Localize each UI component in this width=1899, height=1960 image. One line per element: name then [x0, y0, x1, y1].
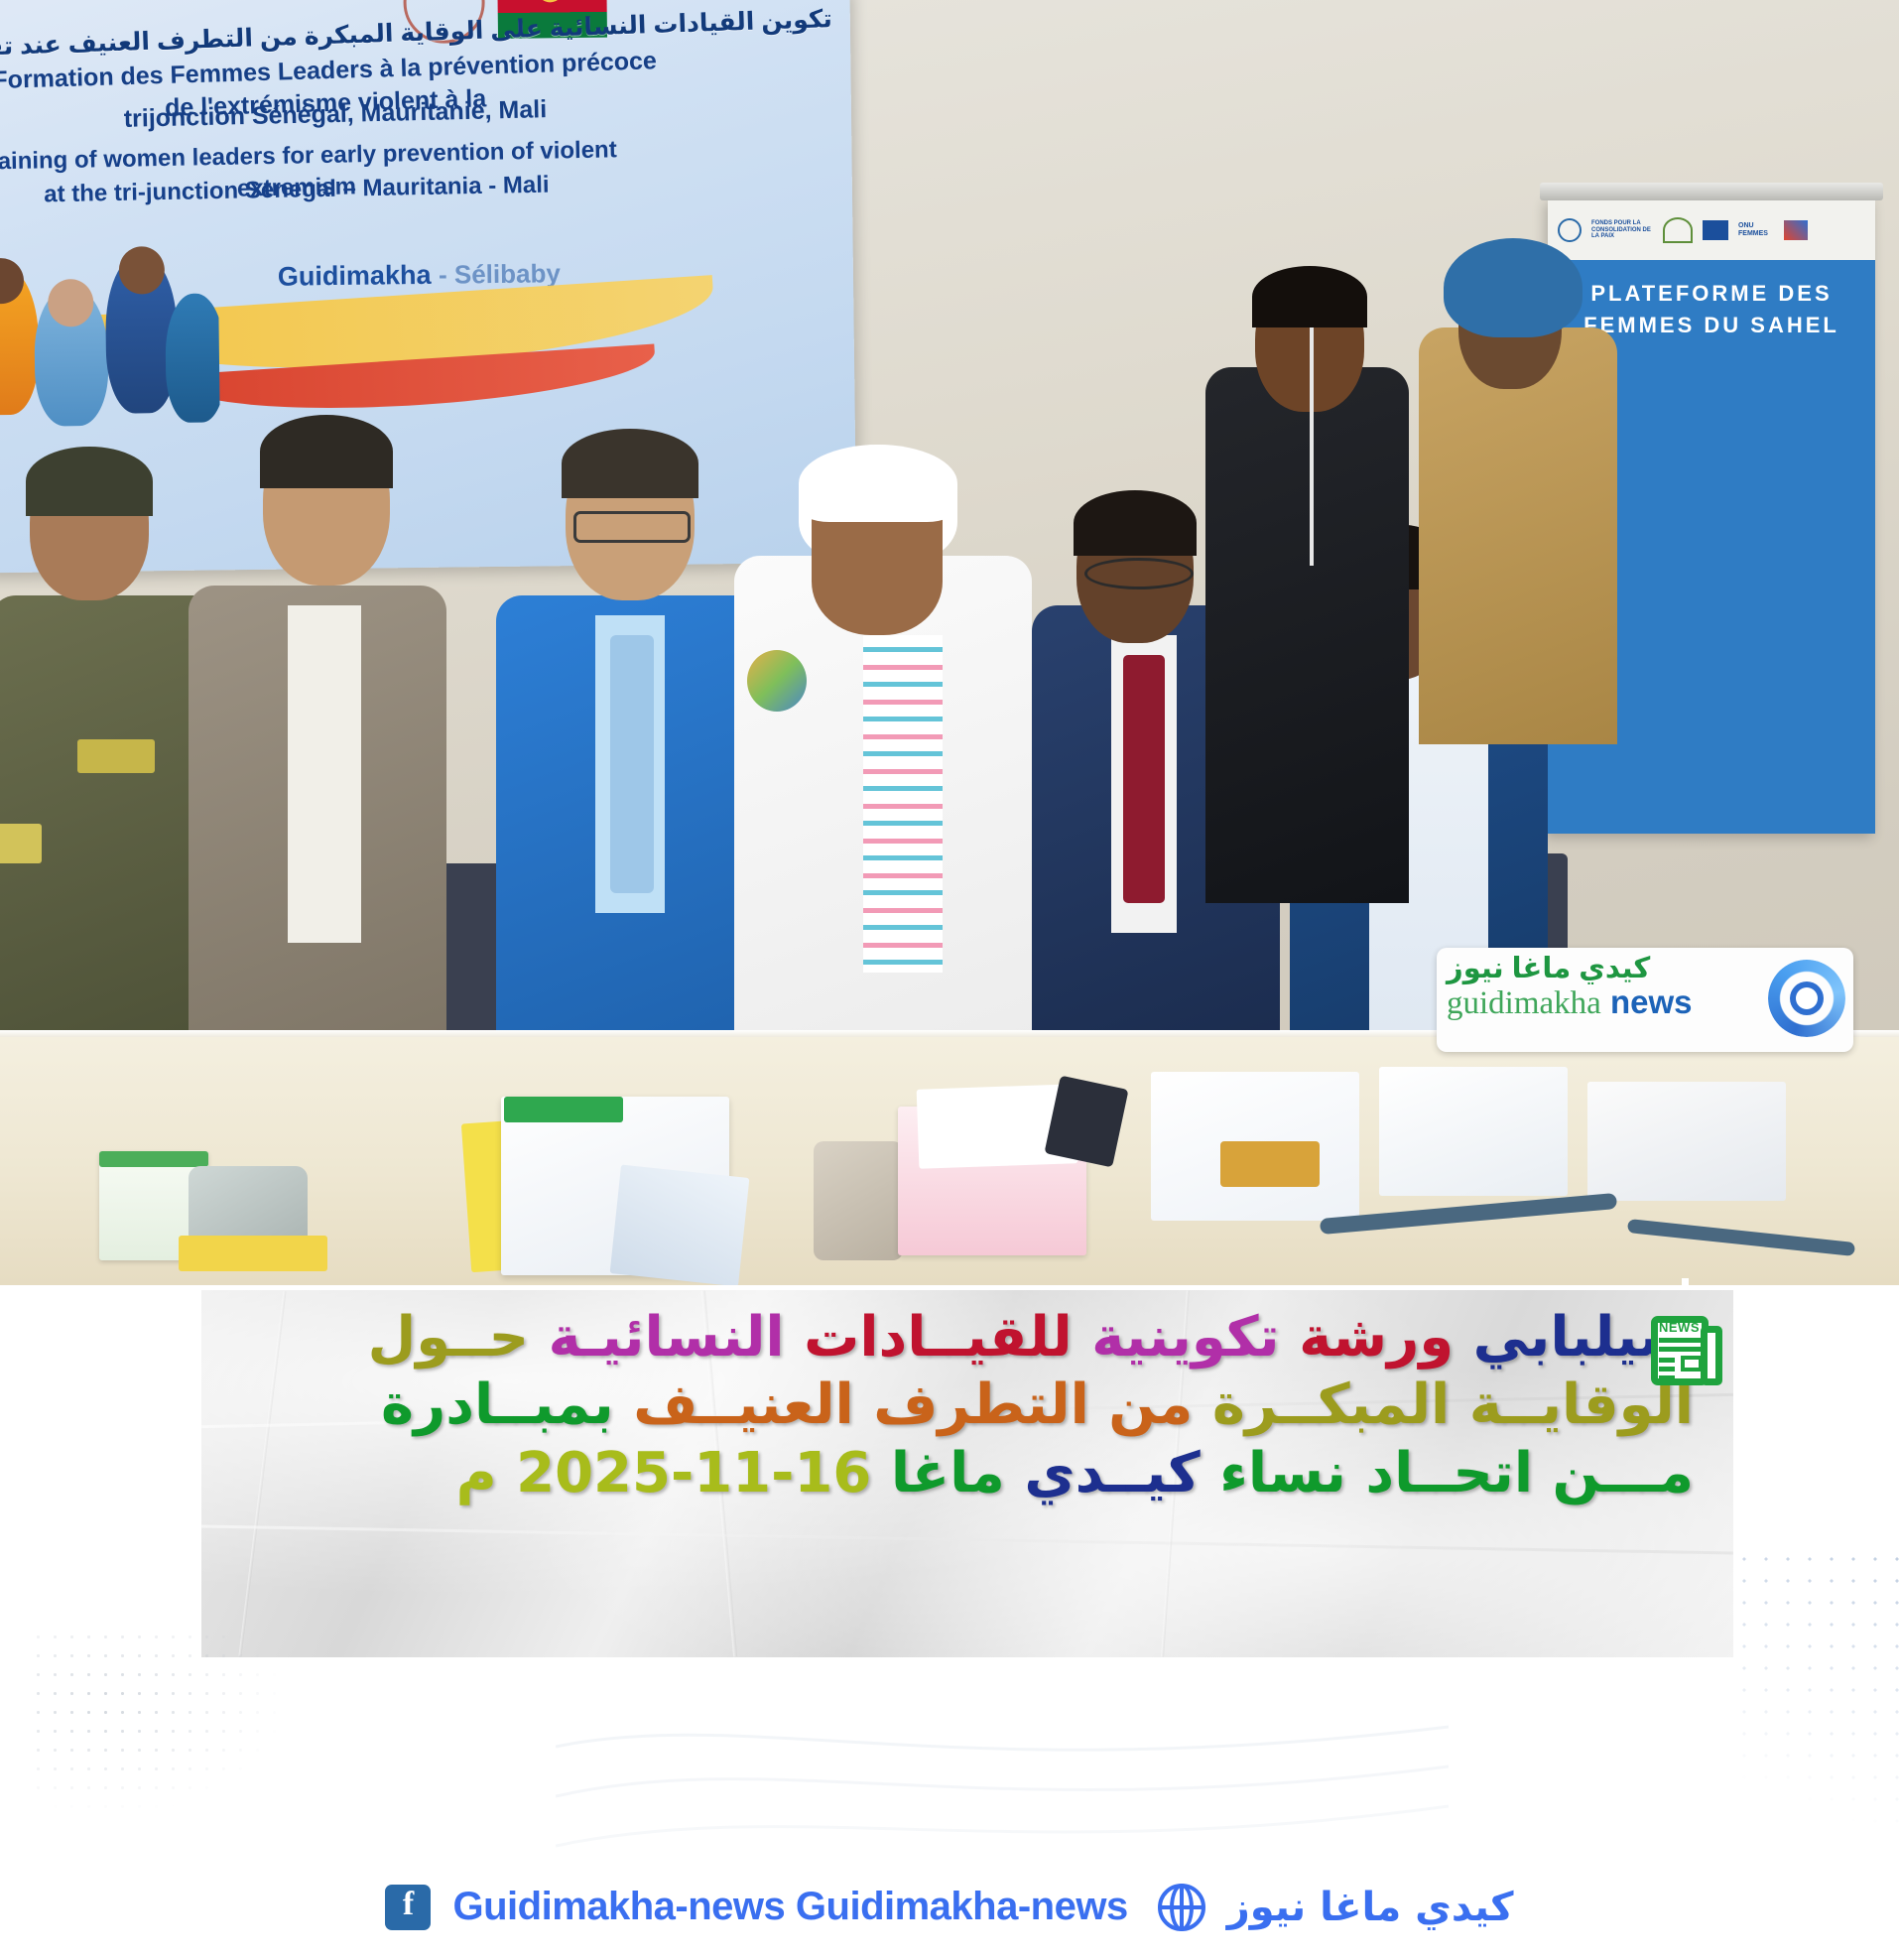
- caption-line-3: مـــن اتحــاد نساء كيــدي ماغا 16-11-202…: [241, 1440, 1694, 1507]
- document-header: [99, 1151, 208, 1167]
- rollup-logo-1-label: FONDS POUR LA CONSOLIDATION DE LA PAIX: [1591, 220, 1653, 240]
- eyeglasses-icon: [1084, 558, 1194, 589]
- paper-stack: [1587, 1082, 1786, 1201]
- caption-panel: سيلبابي ورشة تكوينية للقيــادات النسائيـ…: [201, 1290, 1733, 1657]
- caption-line-2: الوقايــة المبكــرة من التطرف العنيــف ب…: [241, 1372, 1694, 1439]
- news-photo: تكوين القيادات النسائية على الوقاية المب…: [0, 0, 1899, 1285]
- earphone-cable: [1310, 327, 1314, 566]
- facebook-label: Guidimakha-news Guidimakha-news: [452, 1885, 1127, 1929]
- news-icon: NEWS: [1649, 1312, 1724, 1389]
- caption-text: سيلبابي ورشة تكوينية للقيــادات النسائيـ…: [201, 1290, 1733, 1657]
- website-link[interactable]: كيدي ماغا نيوز: [1158, 1884, 1514, 1931]
- speckle-texture: [30, 1628, 288, 1816]
- rollup-logo-row: FONDS POUR LA CONSOLIDATION DE LA PAIX O…: [1558, 208, 1865, 252]
- onu-femmes-logo-icon: [1703, 220, 1728, 240]
- watermark-latin-green: guidimakha: [1447, 985, 1601, 1021]
- site-label: كيدي ماغا نيوز: [1227, 1885, 1514, 1930]
- brochure-page: [610, 1165, 750, 1285]
- banner-location-city: Guidimakha: [278, 260, 432, 292]
- eyeglasses-icon: [573, 511, 691, 543]
- caption-segment: كيــدي: [1024, 1441, 1200, 1505]
- caption-segment: النسائيـة: [548, 1305, 784, 1370]
- caption-segment: تكوينية: [1091, 1305, 1279, 1370]
- yellow-folder: [179, 1236, 327, 1271]
- caption-segment: مـــن اتحــاد نساء: [1219, 1441, 1694, 1505]
- medal-icon: [77, 739, 155, 773]
- caption-segment: ورشة: [1299, 1305, 1454, 1370]
- un-pbf-logo-icon: [1558, 218, 1582, 242]
- footer-bar: Guidimakha-news Guidimakha-news كيدي ماغ…: [0, 1854, 1899, 1960]
- brochure-header: [504, 1097, 623, 1122]
- tote-bag: [1379, 1067, 1568, 1196]
- dot-texture: [1733, 1548, 1899, 1876]
- banner-women-photo: [0, 237, 220, 454]
- caption-segment: ماغا: [891, 1441, 1005, 1505]
- badge-icon: [747, 650, 807, 712]
- watermark-latin-blue: news: [1610, 983, 1693, 1020]
- rollup-top-bar: [1540, 183, 1883, 200]
- news-icon-label: NEWS: [1659, 1320, 1700, 1335]
- caption-segment: المبكــرة: [1212, 1372, 1450, 1437]
- rollup-logo-2-label: ONU FEMMES: [1738, 222, 1774, 237]
- caption-segment: حــول: [368, 1305, 529, 1370]
- plateforme-logo-icon: [1663, 217, 1693, 243]
- banner-location-town: - Sélibaby: [439, 258, 561, 289]
- facebook-icon[interactable]: [385, 1885, 431, 1930]
- partner-logo-icon: [1784, 220, 1808, 240]
- caption-line-1: سيلبابي ورشة تكوينية للقيــادات النسائيـ…: [241, 1304, 1694, 1372]
- bag-logo: [1220, 1141, 1320, 1187]
- caption-segment: للقيــادات: [804, 1305, 1073, 1370]
- caption-segment: 16-11-2025 م: [456, 1441, 872, 1505]
- smartphone: [814, 1141, 903, 1260]
- guidimakha-news-watermark: كيدي ماغا نيوز guidimakha news: [1437, 948, 1853, 1052]
- globe-icon[interactable]: [1158, 1884, 1205, 1931]
- caption-segment: بمبــادرة: [381, 1372, 614, 1437]
- caption-segment: من التطرف العنيــف: [633, 1372, 1193, 1437]
- facebook-link[interactable]: Guidimakha-news Guidimakha-news: [385, 1885, 1127, 1930]
- turban: [1444, 238, 1582, 337]
- watermark-ring-dot-icon: [1790, 981, 1824, 1015]
